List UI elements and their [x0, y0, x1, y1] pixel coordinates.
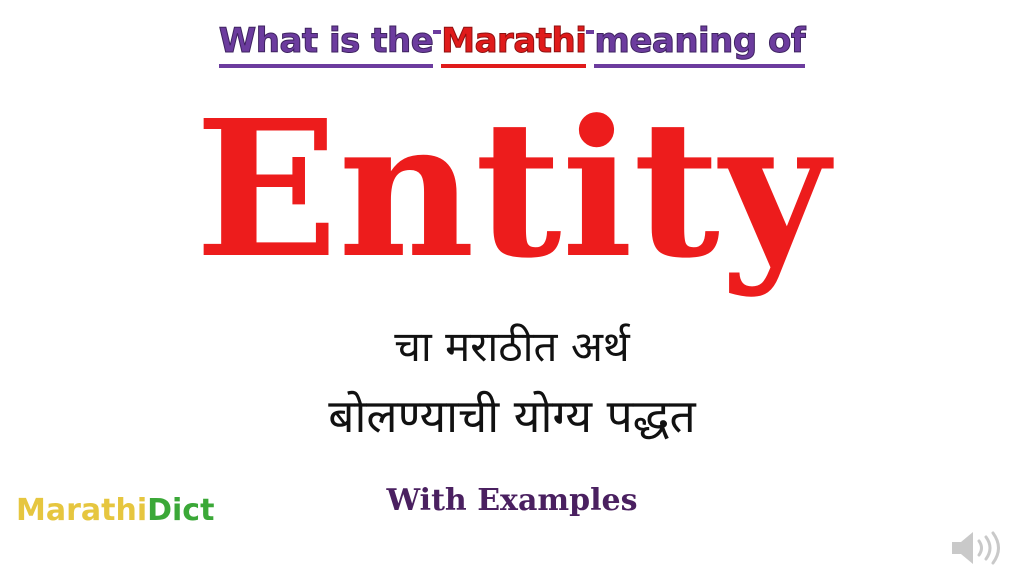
main-word: Entity [0, 96, 1024, 284]
volume-speaker-glyph [946, 528, 1002, 568]
headline-underline-gap-2 [586, 24, 594, 34]
slide-canvas: What is theMarathimeaning of Entity चा म… [0, 0, 1024, 576]
marathi-line-1: चा मराठीत अर्थ [0, 326, 1024, 368]
headline-part-meaning-of: meaning of [594, 24, 805, 68]
headline: What is theMarathimeaning of [0, 24, 1024, 68]
marathi-line-2: बोलण्याची योग्य पद्धत [0, 393, 1024, 439]
brand-logo: MarathiDict [16, 496, 214, 526]
headline-underline-gap-1 [433, 24, 441, 34]
volume-speaker-icon[interactable] [946, 528, 1002, 568]
brand-logo-marathi: Marathi [16, 493, 147, 528]
headline-part-what-is-the: What is the [219, 24, 434, 68]
brand-logo-dict: Dict [147, 493, 214, 528]
headline-part-marathi: Marathi [441, 24, 586, 68]
